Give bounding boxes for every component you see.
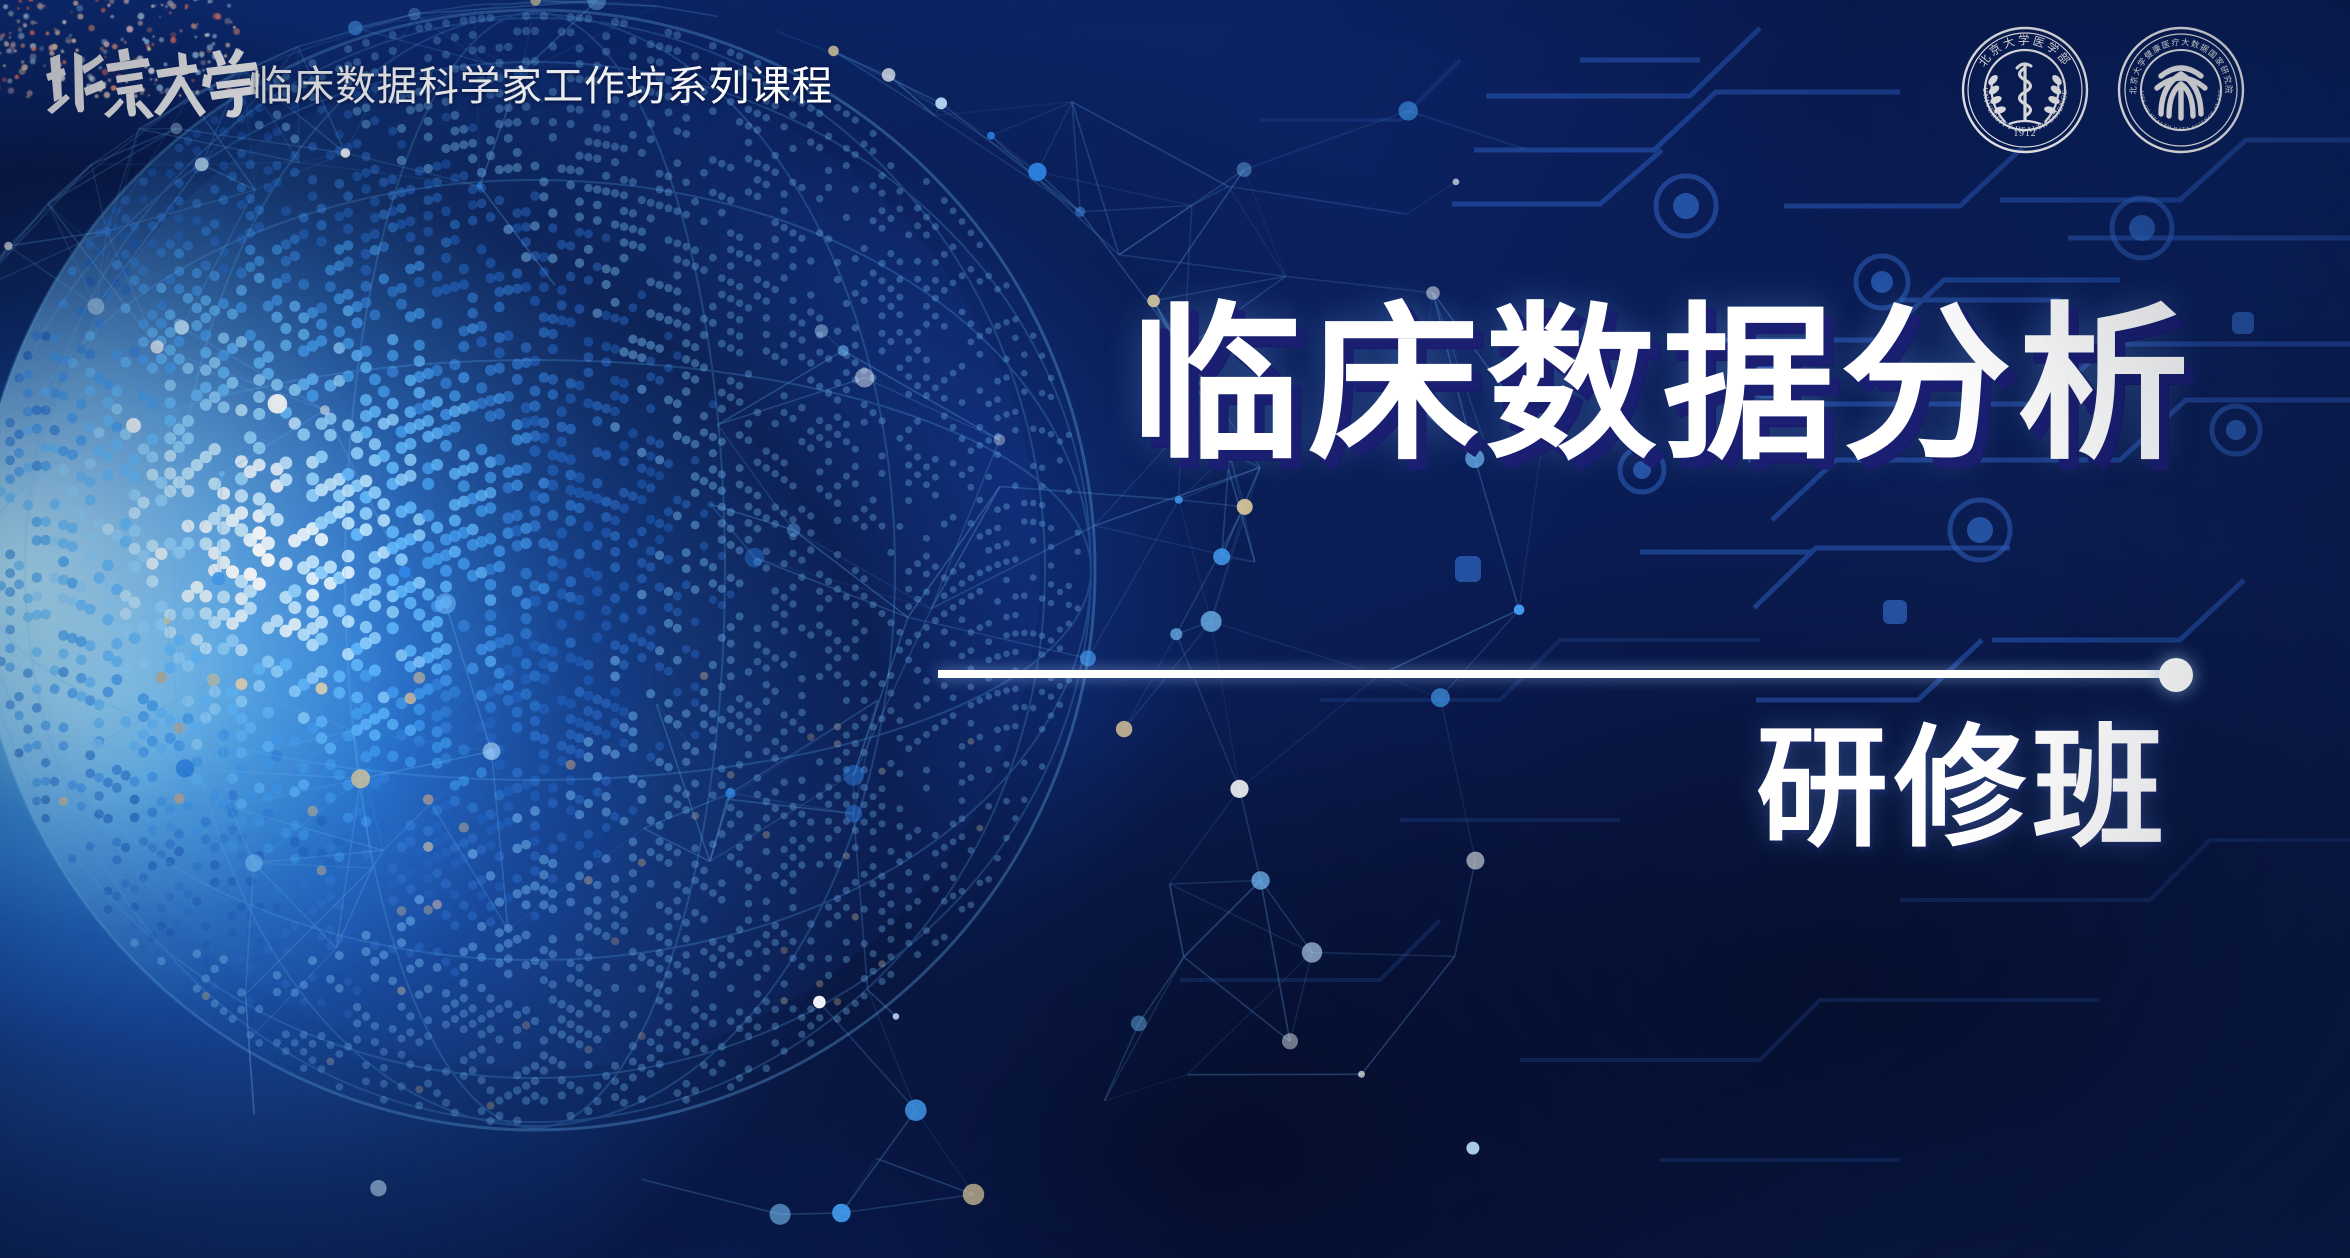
peking-university-calligraphy-logo bbox=[44, 44, 262, 120]
svg-text:1912: 1912 bbox=[2014, 129, 2037, 139]
network-mesh bbox=[0, 0, 2350, 1258]
main-title-block: 临床数据分析 bbox=[945, 300, 2195, 471]
divider-end-dot bbox=[2159, 658, 2193, 692]
title-divider bbox=[938, 658, 2193, 692]
subtitle-block: 研修班 bbox=[1070, 720, 2170, 857]
peking-university-health-science-center-seal: 北京大学医学部 PEKING UNIVERSITY HEALTH SCIENCE… bbox=[1961, 26, 2089, 154]
banner-header: 临床数据科学家工作坊系列课程 北京大学医学部 PEKING UNIVERSITY… bbox=[0, 0, 2350, 170]
rod-of-asclepius-icon bbox=[2017, 64, 2031, 120]
national-institute-health-data-science-seal: 北京大学健康医疗大数据国家研究院 NATIONAL INSTITUTE OF H… bbox=[2117, 26, 2245, 154]
course-banner: 临床数据科学家工作坊系列课程 北京大学医学部 PEKING UNIVERSITY… bbox=[0, 0, 2350, 1258]
divider-line bbox=[938, 670, 2160, 678]
main-subtitle: 研修班 bbox=[1070, 720, 2170, 857]
brand-subtitle: 临床数据科学家工作坊系列课程 bbox=[252, 66, 833, 107]
interwoven-arcs-mark bbox=[2157, 68, 2205, 118]
main-title: 临床数据分析 bbox=[920, 300, 2195, 471]
institution-logos: 北京大学医学部 PEKING UNIVERSITY HEALTH SCIENCE… bbox=[1961, 26, 2245, 154]
